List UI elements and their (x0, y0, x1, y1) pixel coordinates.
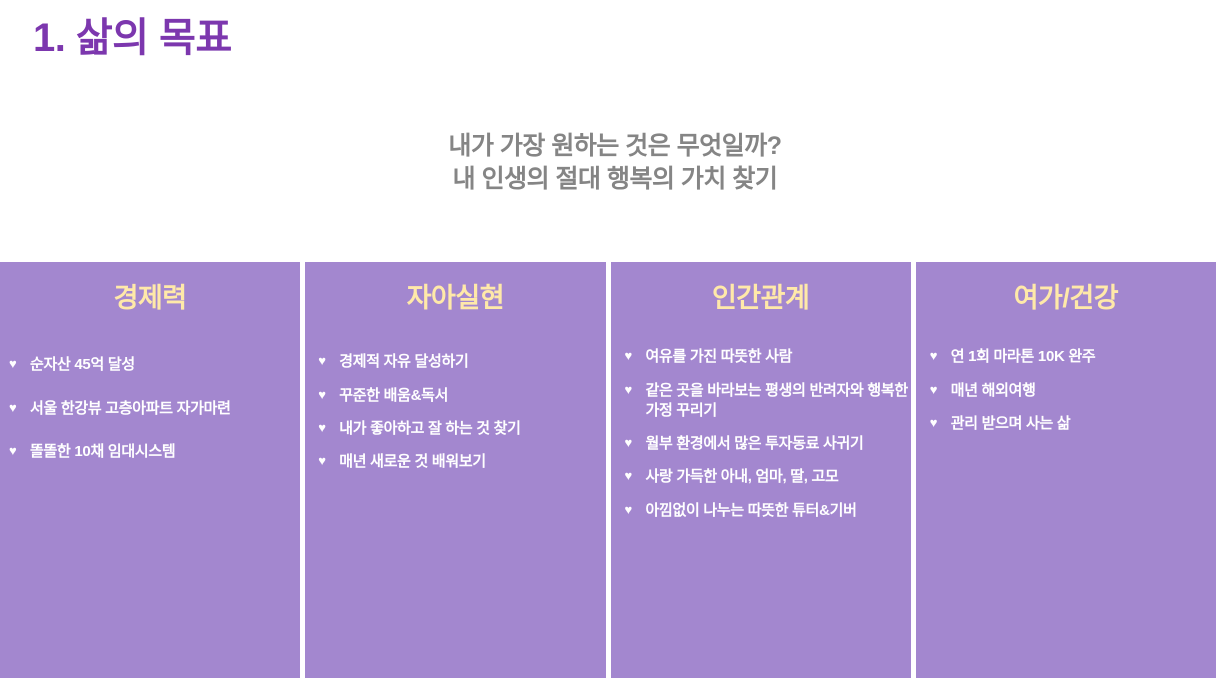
panel-self-realization: 자아실현 ♥ 경제적 자유 달성하기 ♥ 꾸준한 배움&독서 ♥ 내가 좋아하고… (305, 262, 605, 678)
heart-icon: ♥ (625, 501, 632, 520)
heart-icon: ♥ (930, 414, 937, 433)
list-item-label: 서울 한강뷰 고층아파트 자가마련 (30, 400, 231, 417)
list-item: ♥ 내가 좋아하고 잘 하는 것 찾기 (318, 419, 605, 439)
list-item-label: 경제적 자유 달성하기 (339, 353, 468, 370)
list-item: ♥ 월부 환경에서 많은 투자동료 사귀기 (625, 434, 911, 454)
list-item-label: 내가 좋아하고 잘 하는 것 찾기 (339, 420, 520, 437)
list-item: ♥ 매년 새로운 것 배워보기 (318, 452, 605, 472)
heart-icon: ♥ (9, 442, 16, 461)
list-item-label: 매년 해외여행 (951, 382, 1036, 399)
heart-icon: ♥ (930, 347, 937, 366)
list-item-label: 여유를 가진 따뜻한 사람 (646, 348, 793, 365)
panel-header-economy: 경제력 (0, 282, 300, 314)
heart-icon: ♥ (318, 352, 325, 371)
goal-list-relationships: ♥ 여유를 가진 따뜻한 사람 ♥ 같은 곳을 바라보는 평생의 반려자와 행복… (625, 347, 911, 521)
list-item-label: 매년 새로운 것 배워보기 (339, 453, 486, 470)
goal-list-leisure-health: ♥ 연 1회 마라톤 10K 완주 ♥ 매년 해외여행 ♥ 관리 받으며 사는 … (930, 347, 1216, 434)
list-item-label: 연 1회 마라톤 10K 완주 (951, 348, 1096, 365)
subtitle-line-2: 내 인생의 절대 행복의 가치 찾기 (0, 163, 1216, 196)
list-item-label: 아낌없이 나누는 따뜻한 튜터&기버 (646, 502, 857, 519)
heart-icon: ♥ (930, 381, 937, 400)
list-item: ♥ 똘똘한 10채 임대시스템 (9, 442, 300, 462)
goal-list-self-realization: ♥ 경제적 자유 달성하기 ♥ 꾸준한 배움&독서 ♥ 내가 좋아하고 잘 하는… (318, 352, 605, 472)
panel-header-relationships: 인간관계 (611, 282, 911, 314)
list-item-label: 꾸준한 배움&독서 (339, 387, 448, 404)
heart-icon: ♥ (625, 434, 632, 453)
list-item-label: 사랑 가득한 아내, 엄마, 딸, 고모 (646, 468, 839, 485)
subtitle-line-1: 내가 가장 원하는 것은 무엇일까? (0, 130, 1216, 163)
goal-category-panels: 경제력 ♥ 순자산 45억 달성 ♥ 서울 한강뷰 고층아파트 자가마련 ♥ 똘… (0, 262, 1216, 678)
goal-list-economy: ♥ 순자산 45억 달성 ♥ 서울 한강뷰 고층아파트 자가마련 ♥ 똘똘한 1… (9, 355, 300, 462)
heart-icon: ♥ (318, 452, 325, 471)
list-item: ♥ 여유를 가진 따뜻한 사람 (625, 347, 911, 367)
list-item-label: 월부 환경에서 많은 투자동료 사귀기 (646, 435, 864, 452)
panel-header-leisure-health: 여가/건강 (916, 282, 1216, 314)
list-item-label: 같은 곳을 바라보는 평생의 반려자와 행복한 가정 꾸리기 (646, 382, 908, 419)
heart-icon: ♥ (9, 399, 16, 418)
list-item: ♥ 꾸준한 배움&독서 (318, 386, 605, 406)
list-item: ♥ 연 1회 마라톤 10K 완주 (930, 347, 1216, 367)
panel-economy: 경제력 ♥ 순자산 45억 달성 ♥ 서울 한강뷰 고층아파트 자가마련 ♥ 똘… (0, 262, 300, 678)
heart-icon: ♥ (318, 419, 325, 438)
panel-leisure-health: 여가/건강 ♥ 연 1회 마라톤 10K 완주 ♥ 매년 해외여행 ♥ 관리 받… (916, 262, 1216, 678)
panel-header-self-realization: 자아실현 (305, 282, 605, 314)
heart-icon: ♥ (318, 386, 325, 405)
subtitle: 내가 가장 원하는 것은 무엇일까? 내 인생의 절대 행복의 가치 찾기 (0, 130, 1216, 196)
list-item-label: 순자산 45억 달성 (30, 356, 135, 373)
list-item: ♥ 사랑 가득한 아내, 엄마, 딸, 고모 (625, 467, 911, 487)
list-item: ♥ 서울 한강뷰 고층아파트 자가마련 (9, 399, 300, 419)
list-item: ♥ 관리 받으며 사는 삶 (930, 414, 1216, 434)
list-item: ♥ 경제적 자유 달성하기 (318, 352, 605, 372)
list-item-label: 똘똘한 10채 임대시스템 (30, 443, 175, 460)
heart-icon: ♥ (625, 347, 632, 366)
panel-relationships: 인간관계 ♥ 여유를 가진 따뜻한 사람 ♥ 같은 곳을 바라보는 평생의 반려… (611, 262, 911, 678)
heart-icon: ♥ (625, 381, 632, 400)
list-item: ♥ 아낌없이 나누는 따뜻한 튜터&기버 (625, 501, 911, 521)
list-item-label: 관리 받으며 사는 삶 (951, 415, 1071, 432)
heart-icon: ♥ (625, 467, 632, 486)
list-item: ♥ 매년 해외여행 (930, 381, 1216, 401)
page-title: 1. 삶의 목표 (33, 14, 232, 62)
heart-icon: ♥ (9, 355, 16, 374)
list-item: ♥ 순자산 45억 달성 (9, 355, 300, 375)
list-item: ♥ 같은 곳을 바라보는 평생의 반려자와 행복한 가정 꾸리기 (625, 381, 911, 422)
